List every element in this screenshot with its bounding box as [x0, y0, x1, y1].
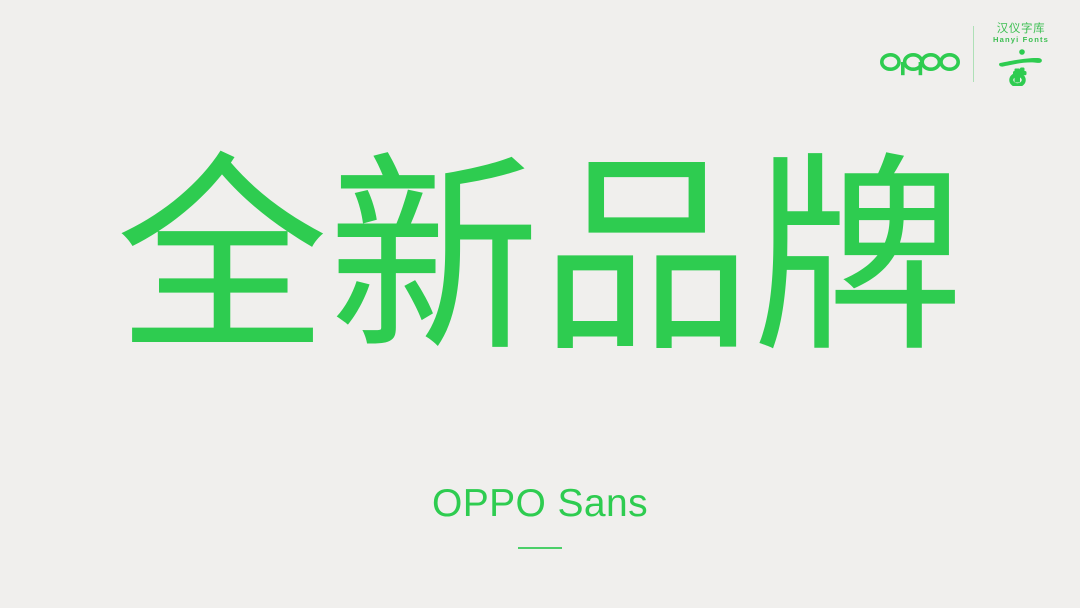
hanyi-zi-mark-icon	[998, 48, 1044, 86]
page-title: 全新品牌	[0, 152, 1080, 364]
hanyi-name-cn: 汉仪字库	[997, 22, 1045, 34]
hanyi-fonts-logo: 汉仪字库 Hanyi Fonts	[988, 22, 1054, 86]
brand-lockup: 汉仪字库 Hanyi Fonts	[880, 18, 1054, 90]
hanyi-name-en: Hanyi Fonts	[993, 36, 1049, 44]
lockup-divider	[973, 26, 974, 82]
caption-text: OPPO Sans	[0, 484, 1080, 523]
oppo-logo-icon	[880, 47, 960, 77]
caption-underline-rule	[518, 547, 562, 549]
slide-canvas: 汉仪字库 Hanyi Fonts 全新品牌 OPPO Sans	[0, 0, 1080, 608]
